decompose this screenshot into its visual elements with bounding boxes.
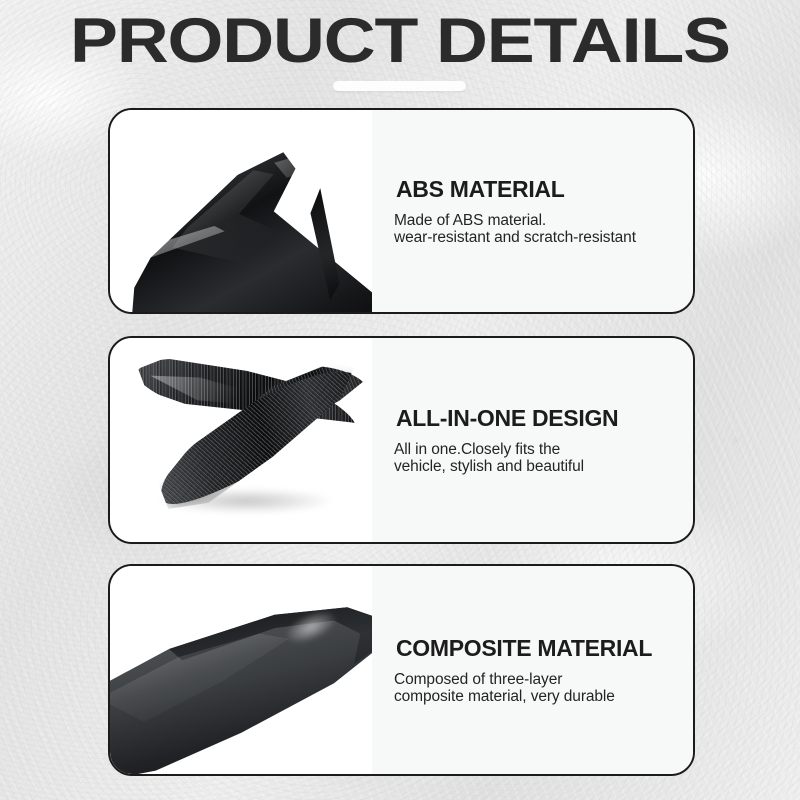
- glossy-fin-illustration: [120, 131, 372, 312]
- page-header: PRODUCT DETAILS: [0, 0, 800, 100]
- feature-card-all-in-one-design: ALL-IN-ONE DESIGN All in one.Closely fit…: [108, 336, 695, 544]
- feature-body-text: Composed of three-layer composite materi…: [394, 671, 679, 705]
- title-underline-accent: [333, 81, 466, 91]
- curved-blade-illustration: [110, 592, 372, 774]
- feature-heading: ABS MATERIAL: [394, 176, 574, 205]
- feature-body-text: All in one.Closely fits the vehicle, sty…: [394, 441, 679, 475]
- feature-body-text: Made of ABS material. wear-resistant and…: [394, 212, 679, 246]
- crossed-fins-illustration: [116, 348, 372, 536]
- feature-card-composite-material: COMPOSITE MATERIAL Composed of three-lay…: [108, 564, 695, 776]
- product-photo-carbon-fins: [110, 338, 372, 542]
- product-photo-glossy-fin: [110, 110, 372, 312]
- feature-text-panel: COMPOSITE MATERIAL Composed of three-lay…: [372, 566, 693, 774]
- page-title: PRODUCT DETAILS: [0, 8, 800, 74]
- product-photo-curved-blade: [110, 566, 372, 774]
- feature-heading: ALL-IN-ONE DESIGN: [394, 405, 628, 434]
- feature-heading: COMPOSITE MATERIAL: [394, 635, 662, 664]
- feature-card-abs-material: ABS MATERIAL Made of ABS material. wear-…: [108, 108, 695, 314]
- feature-text-panel: ABS MATERIAL Made of ABS material. wear-…: [372, 110, 693, 312]
- feature-text-panel: ALL-IN-ONE DESIGN All in one.Closely fit…: [372, 338, 693, 542]
